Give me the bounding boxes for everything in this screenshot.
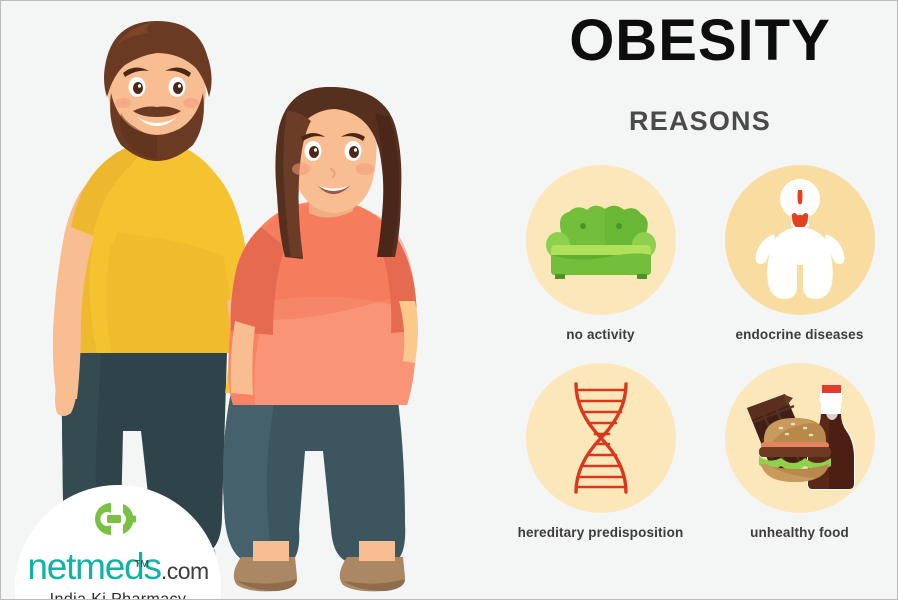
section-subtitle: REASONS bbox=[501, 105, 898, 137]
reason-label: unhealthy food bbox=[700, 525, 898, 540]
reason-label: endocrine diseases bbox=[700, 327, 898, 342]
reasons-grid: no activity endocrine dise bbox=[501, 161, 898, 561]
reason-icon-circle bbox=[526, 363, 676, 513]
reason-icon-circle bbox=[725, 363, 875, 513]
reason-label: no activity bbox=[501, 327, 700, 342]
dna-helix-icon bbox=[564, 380, 638, 496]
obesity-reasons-infographic: netmedsTM.com India Ki Pharmacy OBESITY … bbox=[0, 0, 898, 600]
reason-item-hereditary-predisposition[interactable]: hereditary predisposition bbox=[501, 359, 700, 540]
burger bbox=[759, 418, 831, 482]
netmeds-logo[interactable]: netmedsTM.com India Ki Pharmacy bbox=[15, 485, 221, 600]
human-body-icon bbox=[747, 179, 853, 301]
reasons-panel: OBESITY REASONS bbox=[501, 1, 898, 600]
logo-tld: .com bbox=[161, 558, 209, 584]
reason-item-endocrine-diseases[interactable]: endocrine diseases bbox=[700, 161, 898, 342]
netmeds-c-plus-mark bbox=[89, 499, 147, 539]
page-title: OBESITY bbox=[501, 9, 898, 73]
reason-item-unhealthy-food[interactable]: unhealthy food bbox=[700, 359, 898, 540]
reason-icon-circle bbox=[526, 165, 676, 315]
couch-icon bbox=[545, 201, 657, 279]
reason-icon-circle bbox=[725, 165, 875, 315]
reason-item-no-activity[interactable]: no activity bbox=[501, 161, 700, 342]
logo-trademark: TM bbox=[134, 546, 148, 584]
junk-food-icon bbox=[737, 378, 863, 498]
woman-figure bbox=[223, 87, 418, 591]
logo-wordmark: netmedsTM.com bbox=[27, 548, 208, 590]
reason-label: hereditary predisposition bbox=[501, 525, 700, 540]
logo-tagline: India Ki Pharmacy bbox=[15, 591, 221, 600]
